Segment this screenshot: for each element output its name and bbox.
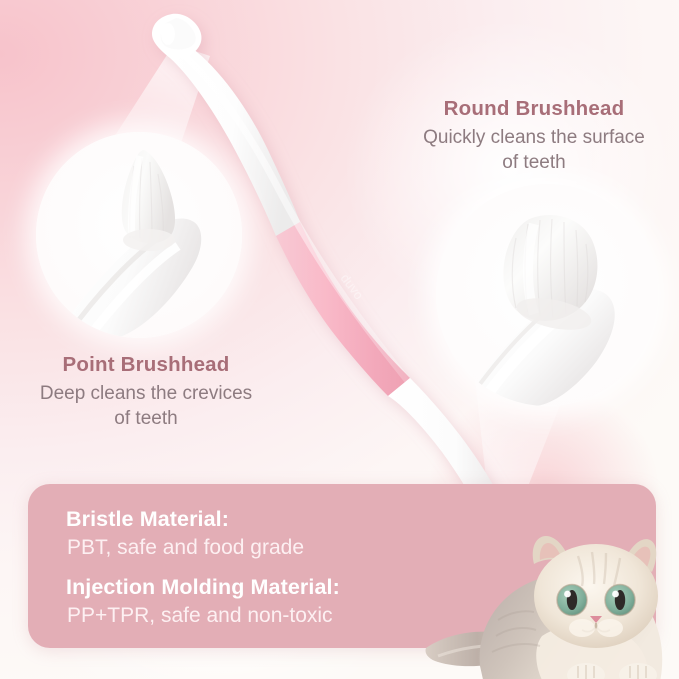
point-brushhead-closeup-circle <box>36 132 242 338</box>
callout-round-description-line2: of teeth <box>392 150 676 175</box>
callout-point-description-line1: Deep cleans the crevices <box>0 381 296 406</box>
callout-point-title: Point Brushhead <box>0 352 296 378</box>
callout-round-title: Round Brushhead <box>392 96 676 122</box>
callout-point-description-line2: of teeth <box>0 406 296 431</box>
cat-photo <box>424 516 679 679</box>
round-brushhead-closeup-circle <box>436 184 658 406</box>
callout-round-brushhead: Round Brushhead Quickly cleans the surfa… <box>392 96 676 175</box>
infographic-canvas: duvo <box>0 0 679 679</box>
callout-point-brushhead: Point Brushhead Deep cleans the crevices… <box>0 352 296 431</box>
callout-round-description-line1: Quickly cleans the surface <box>392 125 676 150</box>
brand-marking: duvo <box>338 271 367 303</box>
